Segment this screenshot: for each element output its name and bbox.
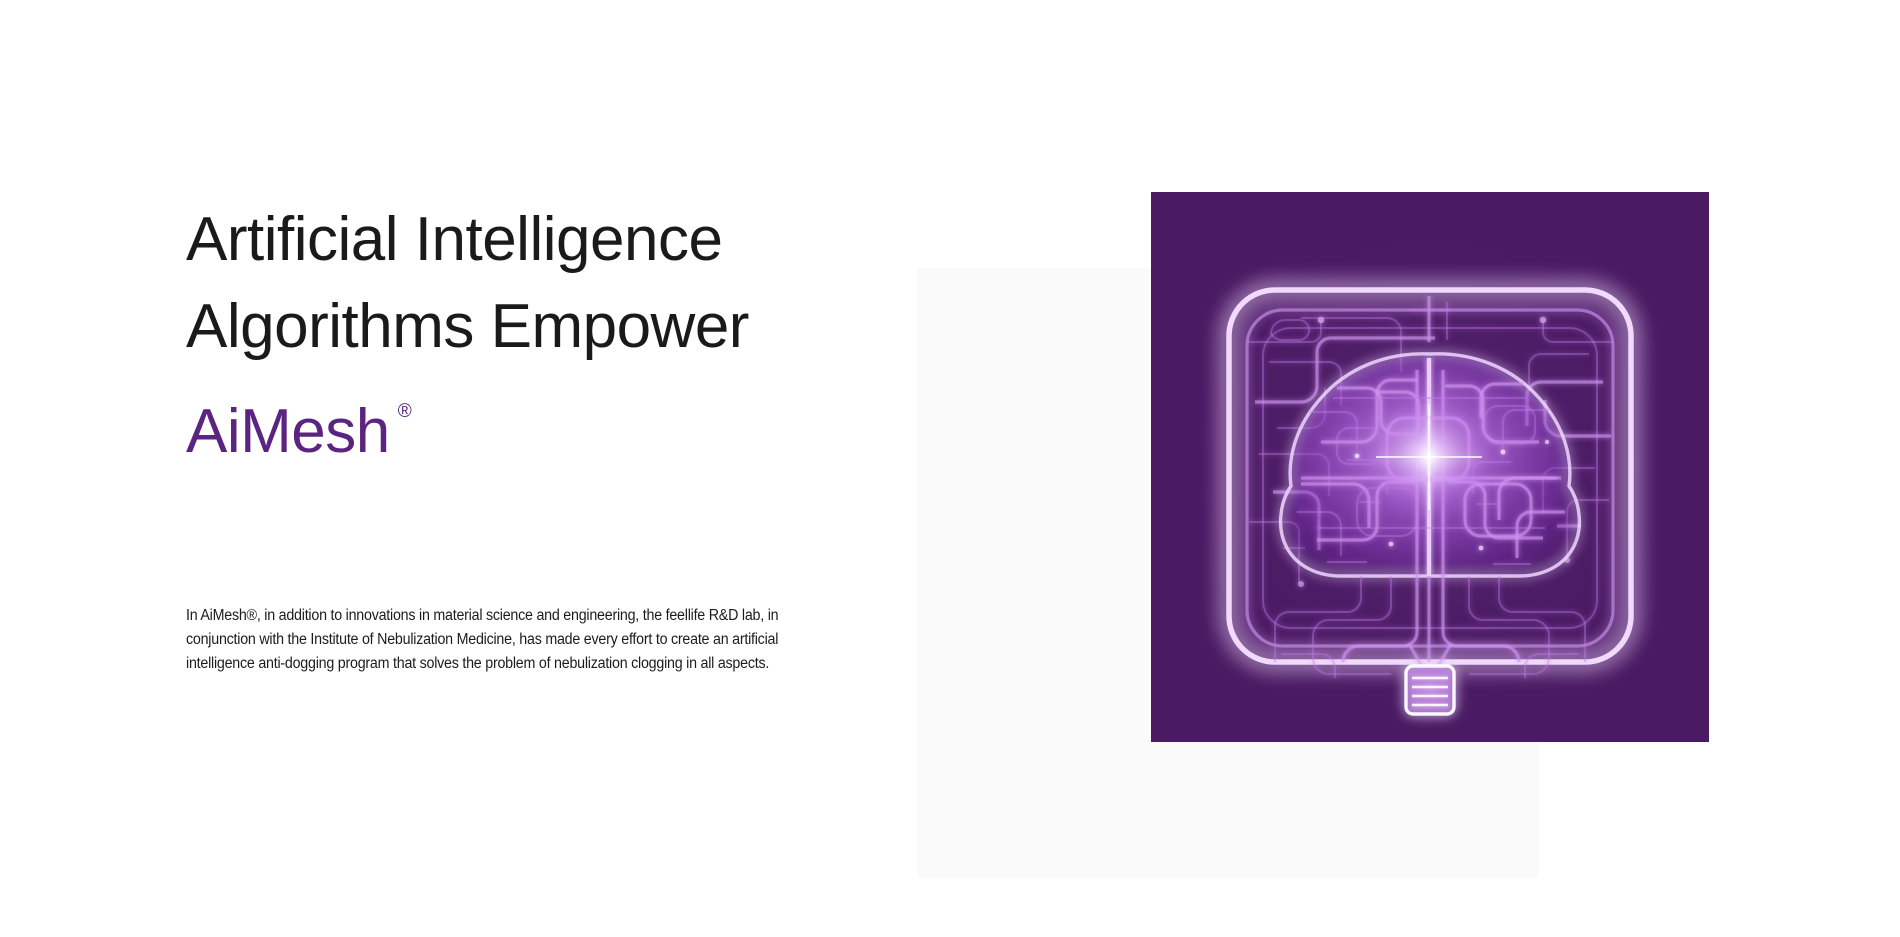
brand-name: AiMesh [186, 396, 390, 468]
brand-lockup: AiMesh ® [186, 396, 390, 468]
brain-circuit-graphic [1151, 192, 1709, 742]
ai-brain-circuit-illustration [1151, 192, 1709, 742]
page-title: Artificial Intelligence Algorithms Empow… [186, 196, 886, 370]
chip-connector-icon [1390, 649, 1470, 729]
hero-text-column: Artificial Intelligence Algorithms Empow… [186, 196, 886, 468]
body-paragraph: In AiMesh®, in addition to innovations i… [186, 604, 821, 676]
registered-trademark-icon: ® [398, 402, 412, 421]
core-flare [1363, 391, 1495, 523]
